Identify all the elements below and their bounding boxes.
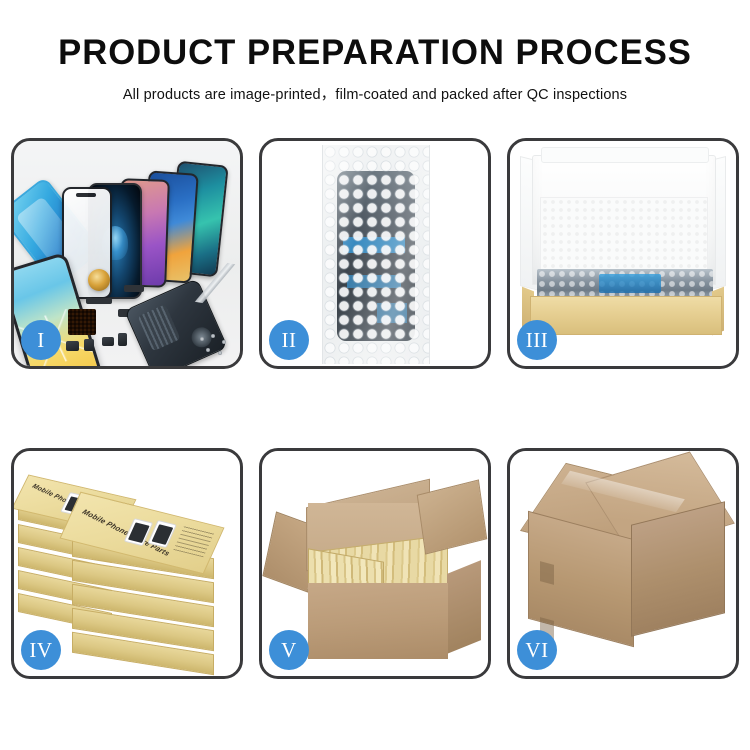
header: PRODUCT PREPARATION PROCESS All products… <box>0 0 750 104</box>
screws-group <box>198 334 232 356</box>
process-step-grid: I II <box>11 138 739 679</box>
vibrator-part <box>102 337 114 346</box>
sim-tray-part <box>118 333 127 346</box>
tweezers-tool <box>189 257 240 308</box>
carton-face-right <box>631 501 725 636</box>
kraft-box-front <box>530 296 722 335</box>
step-badge-1: I <box>21 320 61 360</box>
step-badge-4: IV <box>21 630 61 670</box>
bubble-wrap-pouch <box>322 145 430 364</box>
step-badge-5: V <box>269 630 309 670</box>
step-badge-2: II <box>269 320 309 360</box>
plastic-sheen <box>323 145 429 364</box>
carton-front <box>308 583 448 659</box>
carton-seam-upper <box>540 561 554 585</box>
wrapped-item-in-box <box>537 269 713 299</box>
process-step-panel-5[interactable]: V <box>259 448 491 679</box>
button-flex-part <box>124 285 144 292</box>
foam-liner-inner <box>540 197 708 277</box>
carton-side-right <box>447 560 481 654</box>
process-step-panel-4[interactable]: Mobile Phone Spare Parts Mobile Phone Sp… <box>11 448 243 679</box>
camera-module-part <box>66 341 79 351</box>
speaker-part <box>84 339 94 351</box>
process-step-panel-3[interactable]: III <box>507 138 739 369</box>
page-title: PRODUCT PREPARATION PROCESS <box>4 34 747 72</box>
step-badge-6: VI <box>517 630 557 670</box>
process-step-panel-6[interactable]: VI <box>507 448 739 679</box>
connector-grid-part <box>68 309 96 335</box>
process-step-panel-1[interactable]: I <box>11 138 243 369</box>
process-step-panel-2[interactable]: II <box>259 138 491 369</box>
flex-cable-part <box>86 298 112 304</box>
copper-coil-part <box>88 269 110 291</box>
page-subtitle: All products are image-printed，film-coat… <box>0 83 750 104</box>
step-badge-3: III <box>517 320 557 360</box>
